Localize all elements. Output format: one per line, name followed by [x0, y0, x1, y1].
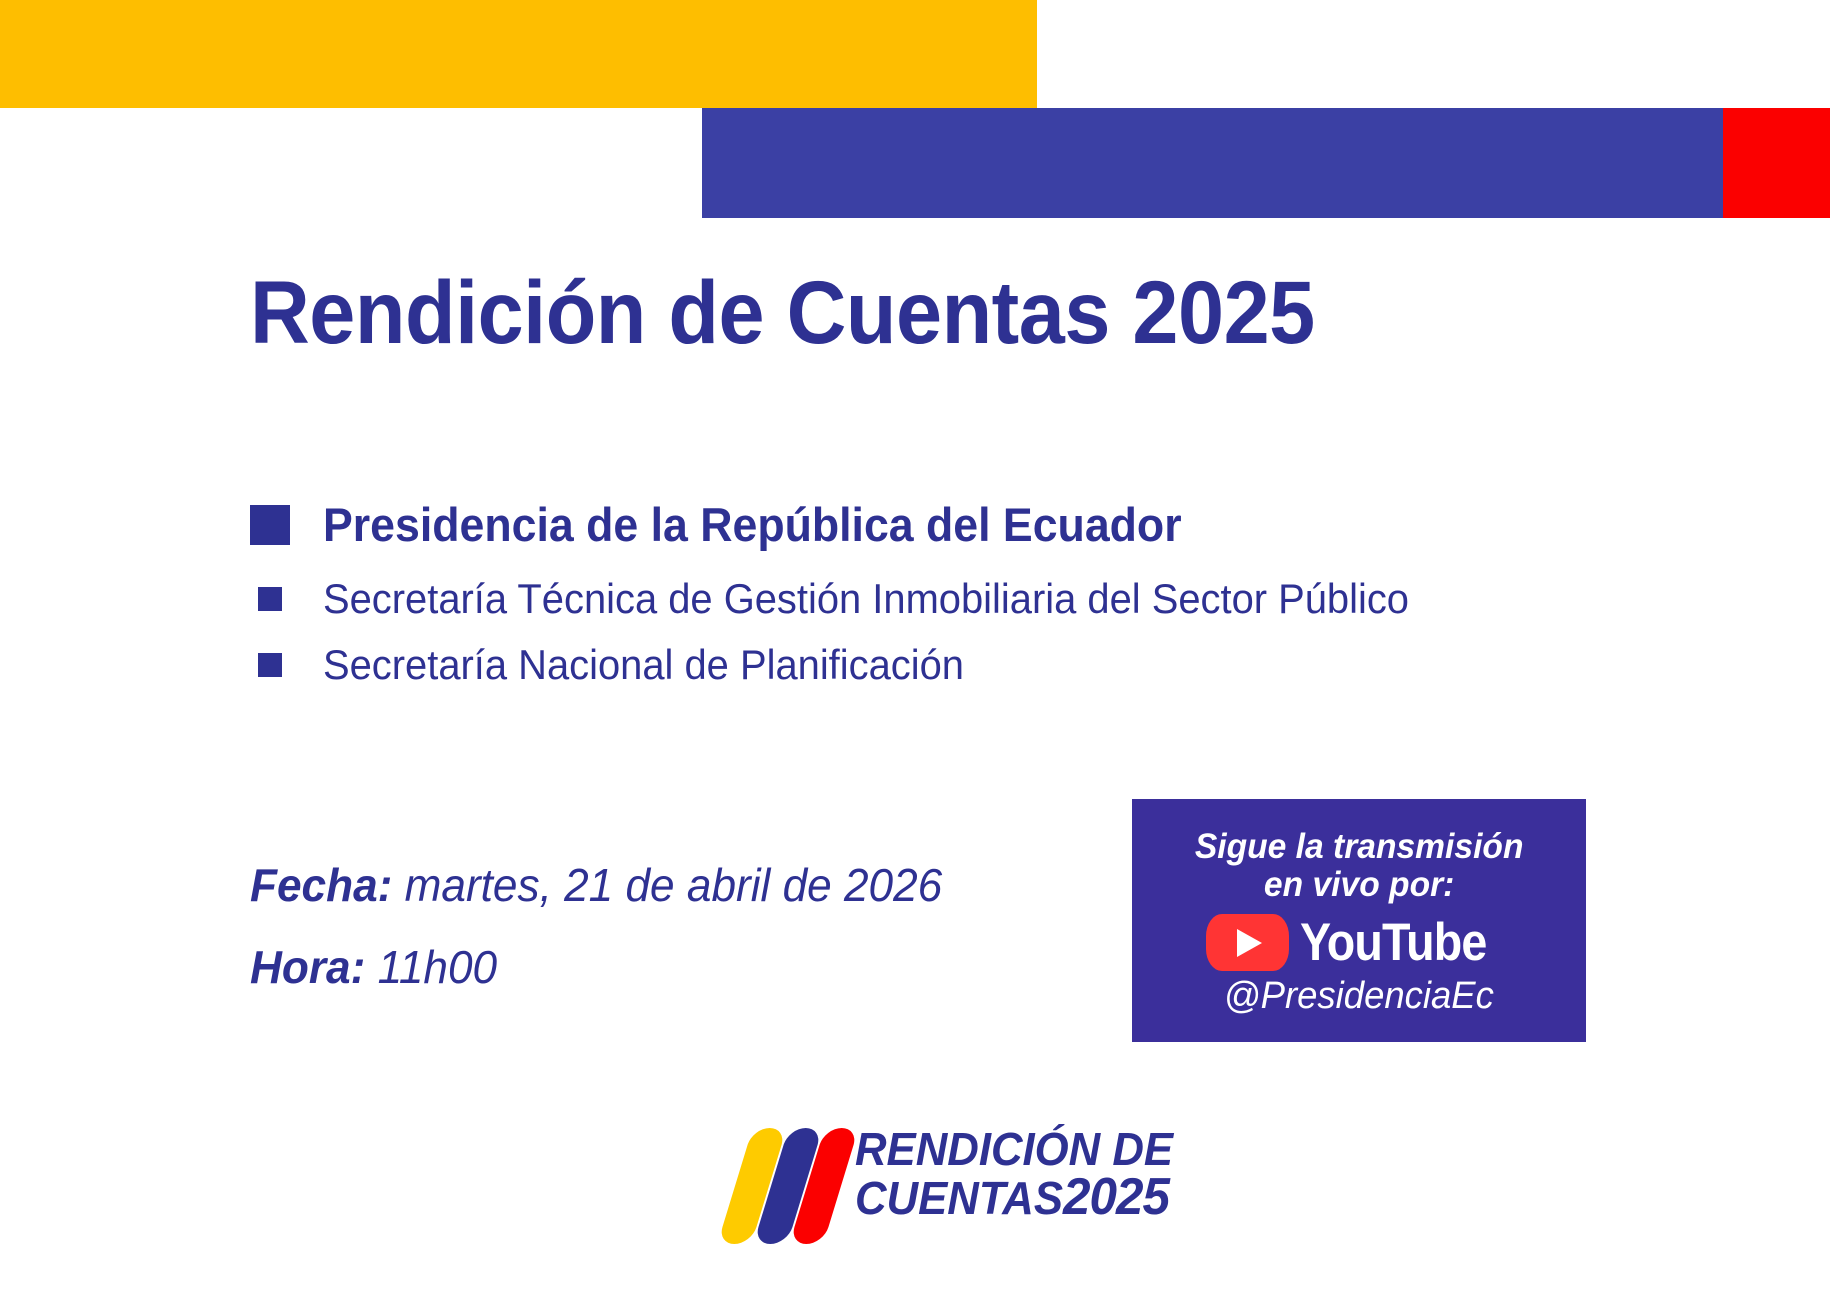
header-red-bar	[1723, 108, 1830, 218]
ecuador-stripes-icon	[733, 1128, 845, 1244]
square-bullet-icon	[258, 587, 282, 611]
youtube-wordmark: YouTube	[1300, 916, 1486, 969]
list-item: Secretaría Técnica de Gestión Inmobiliar…	[250, 577, 1650, 621]
entity-label: Presidencia de la República del Ecuador	[323, 500, 1182, 549]
header-blue-bar	[702, 108, 1723, 218]
live-stream-heading-line2: en vivo por:	[1195, 866, 1524, 904]
square-bullet-icon	[258, 653, 282, 677]
youtube-handle[interactable]: @PresidenciaEc	[1224, 977, 1494, 1015]
event-date-row: Fecha: martes, 21 de abril de 2026	[250, 862, 942, 908]
date-value: martes, 21 de abril de 2026	[405, 859, 943, 911]
footer-logo-line1: RENDICIÓN DE	[855, 1128, 1173, 1170]
entity-label: Secretaría Técnica de Gestión Inmobiliar…	[323, 577, 1409, 621]
footer-logo-line2: CUENTAS2025	[855, 1174, 1173, 1222]
live-stream-heading-line1: Sigue la transmisión	[1195, 828, 1524, 866]
live-stream-heading: Sigue la transmisión en vivo por:	[1195, 828, 1524, 904]
date-label: Fecha:	[250, 859, 392, 911]
event-time-row: Hora: 11h00	[250, 944, 942, 990]
list-item: Presidencia de la República del Ecuador	[250, 500, 1650, 549]
entity-label: Secretaría Nacional de Planificación	[323, 643, 964, 687]
youtube-play-icon	[1206, 914, 1289, 971]
square-bullet-icon	[250, 505, 290, 545]
youtube-logo[interactable]: YouTube	[1206, 914, 1512, 971]
list-item: Secretaría Nacional de Planificación	[250, 643, 1650, 687]
entity-list: Presidencia de la República del Ecuador …	[250, 500, 1650, 710]
footer-logo-text: RENDICIÓN DE CUENTAS2025	[855, 1128, 1190, 1222]
poster-canvas: Rendición de Cuentas 2025 Presidencia de…	[0, 0, 1830, 1316]
footer-logo-word: CUENTAS	[855, 1172, 1063, 1224]
page-title: Rendición de Cuentas 2025	[250, 268, 1315, 357]
live-stream-callout[interactable]: Sigue la transmisión en vivo por: YouTub…	[1132, 799, 1586, 1042]
time-value: 11h00	[378, 941, 498, 993]
header-yellow-bar	[0, 0, 1037, 108]
time-label: Hora:	[250, 941, 365, 993]
event-details: Fecha: martes, 21 de abril de 2026 Hora:…	[250, 862, 971, 990]
footer-logo-year: 2025	[1063, 1168, 1169, 1226]
footer-brand-logo: RENDICIÓN DE CUENTAS2025	[733, 1128, 1190, 1244]
